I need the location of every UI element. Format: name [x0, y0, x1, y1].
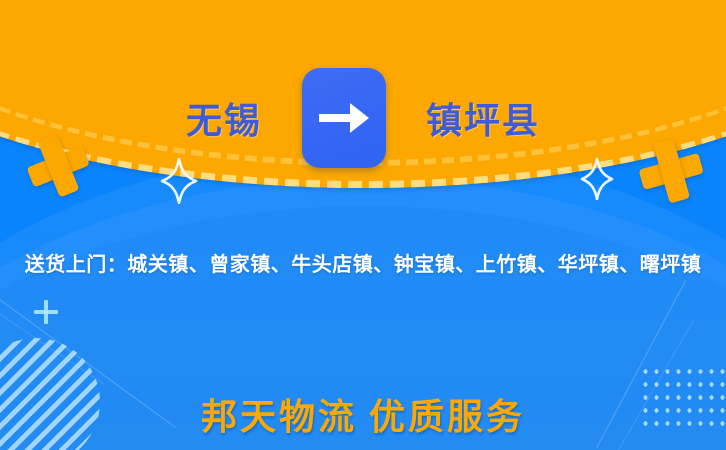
delivery-towns-text: 送货上门：城关镇、曾家镇、牛头店镇、钟宝镇、上竹镇、华坪镇、曙坪镇 — [0, 248, 726, 277]
arrow-right-icon — [317, 98, 371, 138]
route-row: 无锡 镇坪县 — [0, 78, 726, 158]
destination-city-label: 镇坪县 — [426, 92, 540, 144]
origin-city-label: 无锡 — [186, 92, 262, 144]
company-slogan: 邦天物流 优质服务 — [0, 388, 726, 440]
route-arrow-button[interactable] — [302, 68, 386, 168]
logistics-banner: 无锡 镇坪县 送货上门：城关镇、曾家镇、牛头店镇、钟宝镇、上竹镇、华坪镇、曙坪镇… — [0, 0, 726, 450]
